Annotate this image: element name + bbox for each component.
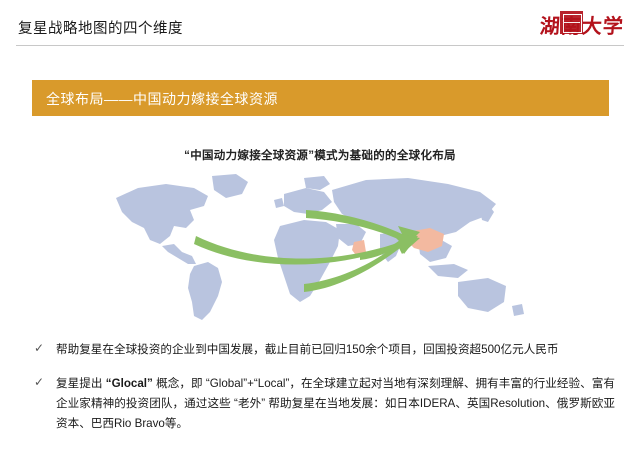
landmass-greenland: [212, 174, 248, 198]
landmass-scandinavia: [304, 176, 330, 190]
map-caption: “中国动力嫁接全球资源”模式为基础的的全球化布局: [0, 147, 640, 163]
logo-seal-icon: [560, 11, 583, 34]
landmass-north-america: [116, 184, 208, 244]
landmass-south-america: [188, 262, 222, 320]
landmass-indonesia: [428, 264, 468, 278]
bullet-text-2a: 复星提出: [56, 377, 106, 390]
list-item: ✓ 帮助复星在全球投资的企业到中国发展，截止目前已回归150余个项目，回国投资超…: [30, 340, 615, 360]
section-banner-label: 全球布局——中国动力嫁接全球资源: [46, 89, 278, 109]
world-map-graphic: [108, 170, 532, 325]
landmass-europe: [284, 188, 332, 214]
landmass-uk: [274, 198, 284, 208]
bullet-text-1: 帮助复星在全球投资的企业到中国发展，截止目前已回归150余个项目，回国投资超50…: [56, 343, 558, 356]
page-title: 复星战略地图的四个维度: [18, 17, 183, 38]
slide-header: 复星战略地图的四个维度 湖南大学: [0, 0, 640, 56]
university-logo: 湖南大学: [514, 8, 624, 46]
logo-seal-inner: [563, 14, 582, 33]
landmass-group: [116, 174, 524, 320]
landmass-central-america: [162, 244, 196, 264]
bullet-text-2b: “Glocal”: [106, 377, 153, 390]
landmass-new-zealand: [512, 304, 524, 316]
section-banner: 全球布局——中国动力嫁接全球资源: [32, 80, 609, 116]
check-icon: ✓: [34, 376, 46, 388]
landmass-australia: [458, 278, 506, 312]
logo-seal-bar: [563, 22, 580, 24]
world-map: [108, 170, 532, 325]
list-item: ✓ 复星提出 “Glocal” 概念，即 “Global”+“Local”，在全…: [30, 374, 615, 434]
check-icon: ✓: [34, 342, 46, 354]
bullet-list: ✓ 帮助复星在全球投资的企业到中国发展，截止目前已回归150余个项目，回国投资超…: [30, 340, 615, 448]
